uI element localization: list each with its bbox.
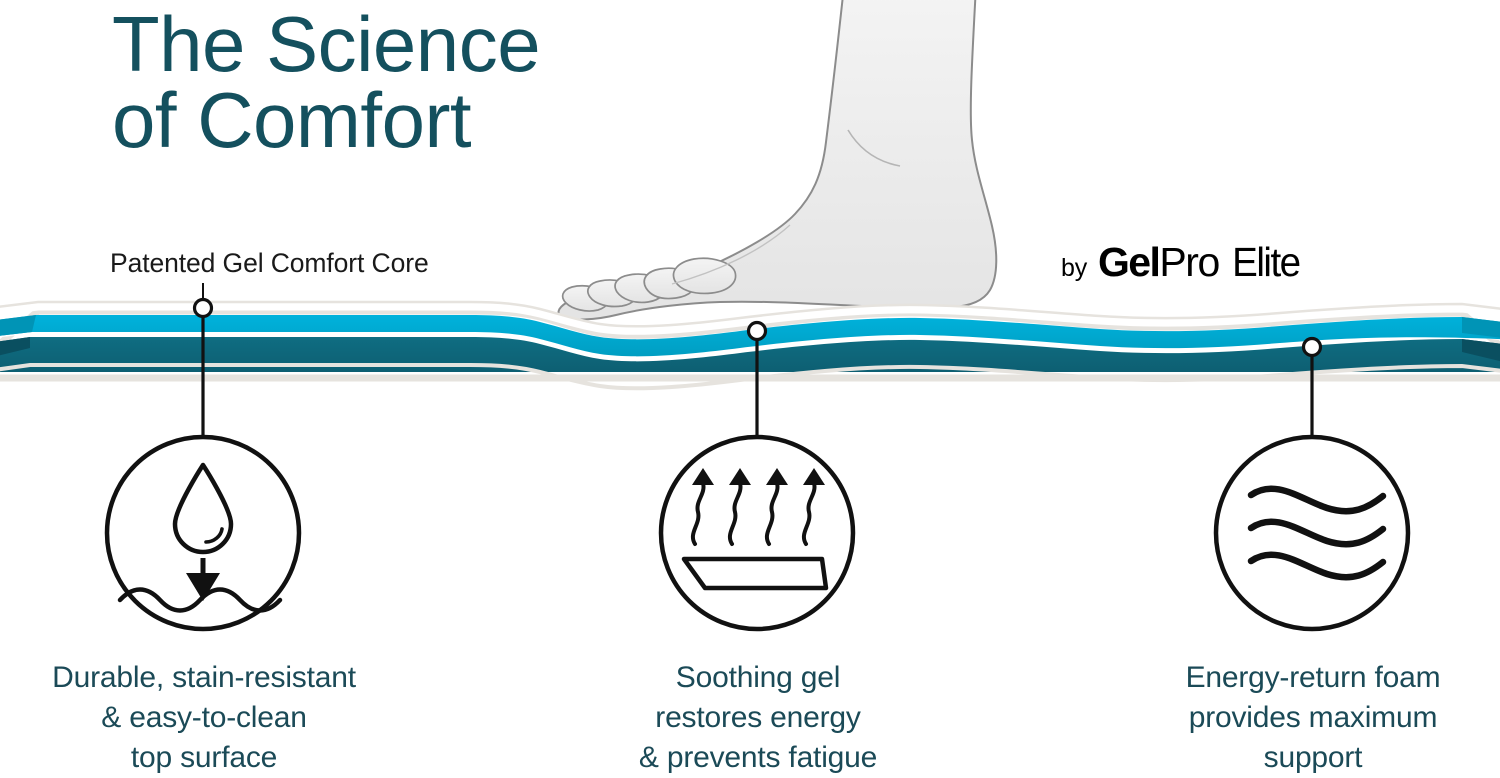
feature-icon-3 [1216,437,1408,629]
mat-bottom-outline [0,365,1500,388]
water-surface-wave [120,590,280,611]
brand-logo: by Gel Pro Elite [1061,239,1302,286]
gel-left-bevel [0,315,36,338]
icon-circle-2 [661,437,853,629]
brand-word-elite: Elite [1232,239,1299,286]
ankle-crease [848,130,900,166]
foam-left-bevel [0,337,30,360]
heat-arrow-head-2 [729,468,751,485]
callout-dot-1 [195,300,212,317]
arrow-head [186,573,220,601]
foam-layer [0,337,1500,372]
feature-icon-1 [107,437,299,629]
toe-5-big [674,258,736,293]
mat-layer-label: Patented Gel Comfort Core [110,248,429,279]
mat-top-surface [0,306,1500,330]
droplet-shape [175,465,231,552]
mat-outer-edge-highlight [0,311,1500,378]
feature-caption-2: Soothing gel restores energy & prevents … [572,658,944,778]
icon-circle-3 [1216,437,1408,629]
toe-4 [644,268,695,298]
page-title: The Science of Comfort [112,6,732,159]
science-of-comfort-infographic: The Science of Comfort Patented Gel Comf… [0,0,1500,778]
callout-dot-2 [749,323,766,340]
brand-word-pro: Pro [1159,239,1219,286]
toe-3 [615,274,665,302]
heat-arrow-head-3 [766,468,788,485]
brand-prefix: by [1061,254,1087,283]
toe-1 [563,286,609,311]
brand-word-gel: Gel [1098,239,1159,286]
rising-heat-waves-icon [684,468,826,588]
water-droplet-absorb-icon [120,465,280,611]
droplet-highlight [206,529,222,542]
callout-leader-lines [195,283,1321,443]
gel-right-bevel [1462,317,1500,340]
feature-icon-2 [661,437,853,629]
mat-top-outline [0,302,1500,326]
mat-slab [0,302,1500,388]
feature-caption-3: Energy-return foam provides maximum supp… [1126,658,1500,778]
arch-crease [672,225,790,284]
feature-caption-1: Durable, stain-resistant & easy-to-clean… [0,658,408,778]
mat-surface-plane [684,559,826,588]
callout-dot-3 [1304,339,1321,356]
foam-waves-icon [1251,489,1383,578]
toe-2 [588,280,637,307]
foam-right-bevel [1462,339,1500,366]
layer-divider [0,330,1500,354]
gel-layer [0,315,1500,356]
heat-arrow-head-1 [692,468,714,485]
icon-circle-1 [107,437,299,629]
heat-arrow-head-4 [803,468,825,485]
